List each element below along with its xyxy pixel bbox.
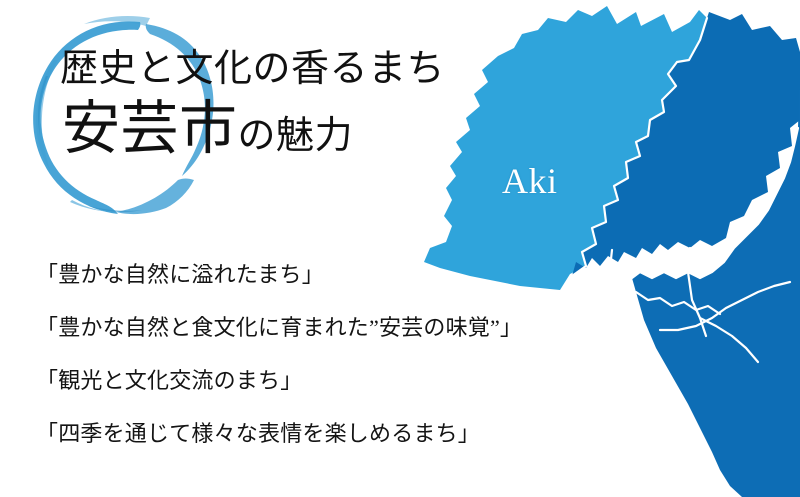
- poster-canvas: 歴史と文化の香るまち 安芸市の魅力 「豊かな自然に溢れたまち」 「豊かな自然と食…: [0, 0, 800, 497]
- title-block: 歴史と文化の香るまち 安芸市の魅力: [0, 8, 470, 228]
- page-title-city-name: 安芸市: [62, 96, 238, 161]
- tagline-item: 「豊かな自然に溢れたまち」: [36, 248, 596, 301]
- tagline-item: 「観光と文化交流のまち」: [36, 354, 596, 407]
- tagline-item: 「豊かな自然と食文化に育まれた”安芸の味覚”」: [36, 301, 596, 354]
- page-title-line-2: 安芸市の魅力: [62, 100, 353, 158]
- map-label-aki: Aki: [502, 160, 558, 202]
- page-title-line-1: 歴史と文化の香るまち: [60, 50, 445, 88]
- tagline-item: 「四季を通じて様々な表情を楽しめるまち」: [36, 407, 596, 460]
- tagline-list: 「豊かな自然に溢れたまち」 「豊かな自然と食文化に育まれた”安芸の味覚”」 「観…: [36, 248, 596, 460]
- page-title-suffix: の魅力: [238, 115, 354, 157]
